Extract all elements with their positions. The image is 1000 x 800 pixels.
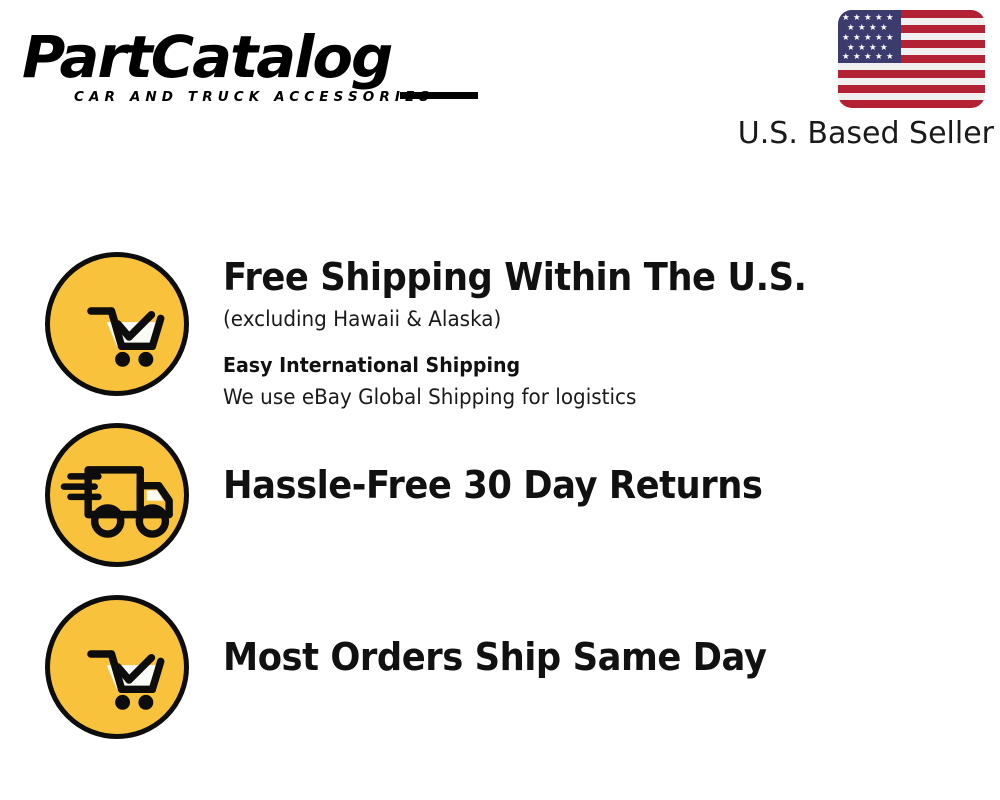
benefit-text-block: Free Shipping Within The U.S. (excluding… [223, 254, 963, 412]
benefit-row: Hassle-Free 30 Day Returns [0, 418, 1000, 568]
delivery-truck-icon [45, 423, 189, 567]
flag-canton: ★ ★ ★ ★ ★ ★ ★ ★ ★ ★ ★ ★ ★ ★ ★ ★ ★ ★ ★ ★ … [838, 10, 901, 63]
shopping-cart-check-icon [45, 252, 189, 396]
international-shipping-detail: We use eBay Global Shipping for logistic… [223, 382, 926, 412]
flag-stripe [838, 70, 985, 78]
benefit-row: Free Shipping Within The U.S. (excluding… [0, 246, 1000, 406]
shopping-cart-check-icon [45, 595, 189, 739]
page-header: PartCatalog CAR AND TRUCK ACCESSORIES ★ … [0, 0, 1000, 170]
brand-wordmark: PartCatalog [22, 26, 501, 88]
us-flag-icon: ★ ★ ★ ★ ★ ★ ★ ★ ★ ★ ★ ★ ★ ★ ★ ★ ★ ★ ★ ★ … [838, 10, 985, 108]
flag-stripe [838, 63, 985, 71]
international-shipping-heading: Easy International Shipping [223, 350, 926, 380]
benefit-text-block: Most Orders Ship Same Day [223, 634, 963, 680]
benefit-exclusion-note: (excluding Hawaii & Alaska) [223, 304, 926, 334]
benefit-row: Most Orders Ship Same Day [0, 590, 1000, 742]
benefit-text-block: Hassle-Free 30 Day Returns [223, 462, 963, 508]
us-based-seller-label: U.S. Based Seller [724, 115, 994, 153]
flag-stripe [838, 85, 985, 93]
flag-stripe [838, 78, 985, 86]
benefit-headline: Hassle-Free 30 Day Returns [223, 462, 911, 508]
benefit-headline: Most Orders Ship Same Day [223, 634, 911, 680]
brand-underline-bar [400, 92, 478, 99]
benefit-headline: Free Shipping Within The U.S. [223, 254, 911, 300]
flag-stripe [838, 100, 985, 108]
flag-stripe [838, 93, 985, 101]
